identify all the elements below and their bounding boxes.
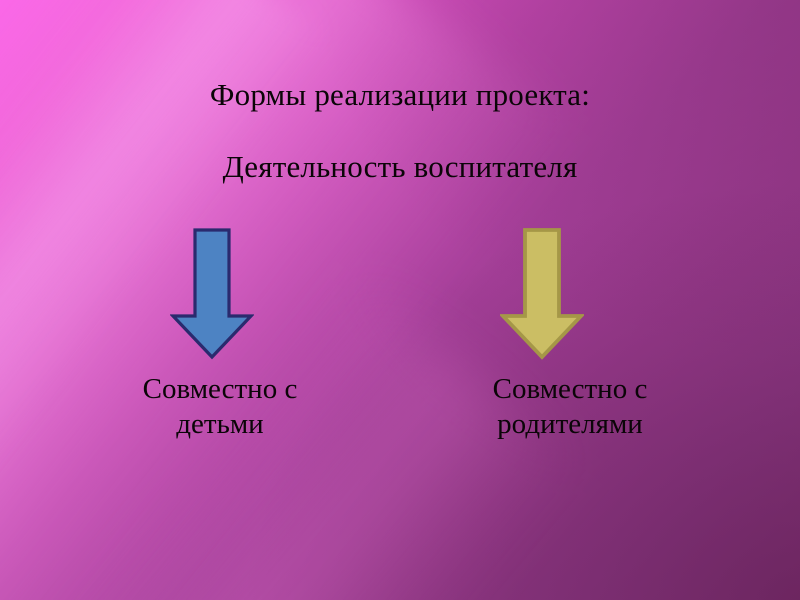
down-arrow-blue	[170, 228, 254, 360]
caption-line-2: родителями	[400, 407, 740, 442]
caption-line-1: Совместно с	[55, 372, 385, 407]
down-arrow-blue-glyph	[170, 228, 254, 360]
page-title: Формы реализации проекта:	[0, 78, 800, 112]
caption-line-2: детьми	[55, 407, 385, 442]
caption-line-1: Совместно с	[400, 372, 740, 407]
down-arrow-yellow-glyph	[500, 228, 584, 360]
branch-caption-parents: Совместно с родителями	[400, 372, 740, 443]
slide-subtitle: Деятельность воспитателя	[0, 150, 800, 184]
presentation-slide: Формы реализации проекта: Деятельность в…	[0, 0, 800, 600]
slide-content: Формы реализации проекта: Деятельность в…	[0, 0, 800, 600]
down-arrow-yellow	[500, 228, 584, 360]
branch-caption-children: Совместно с детьми	[55, 372, 385, 443]
